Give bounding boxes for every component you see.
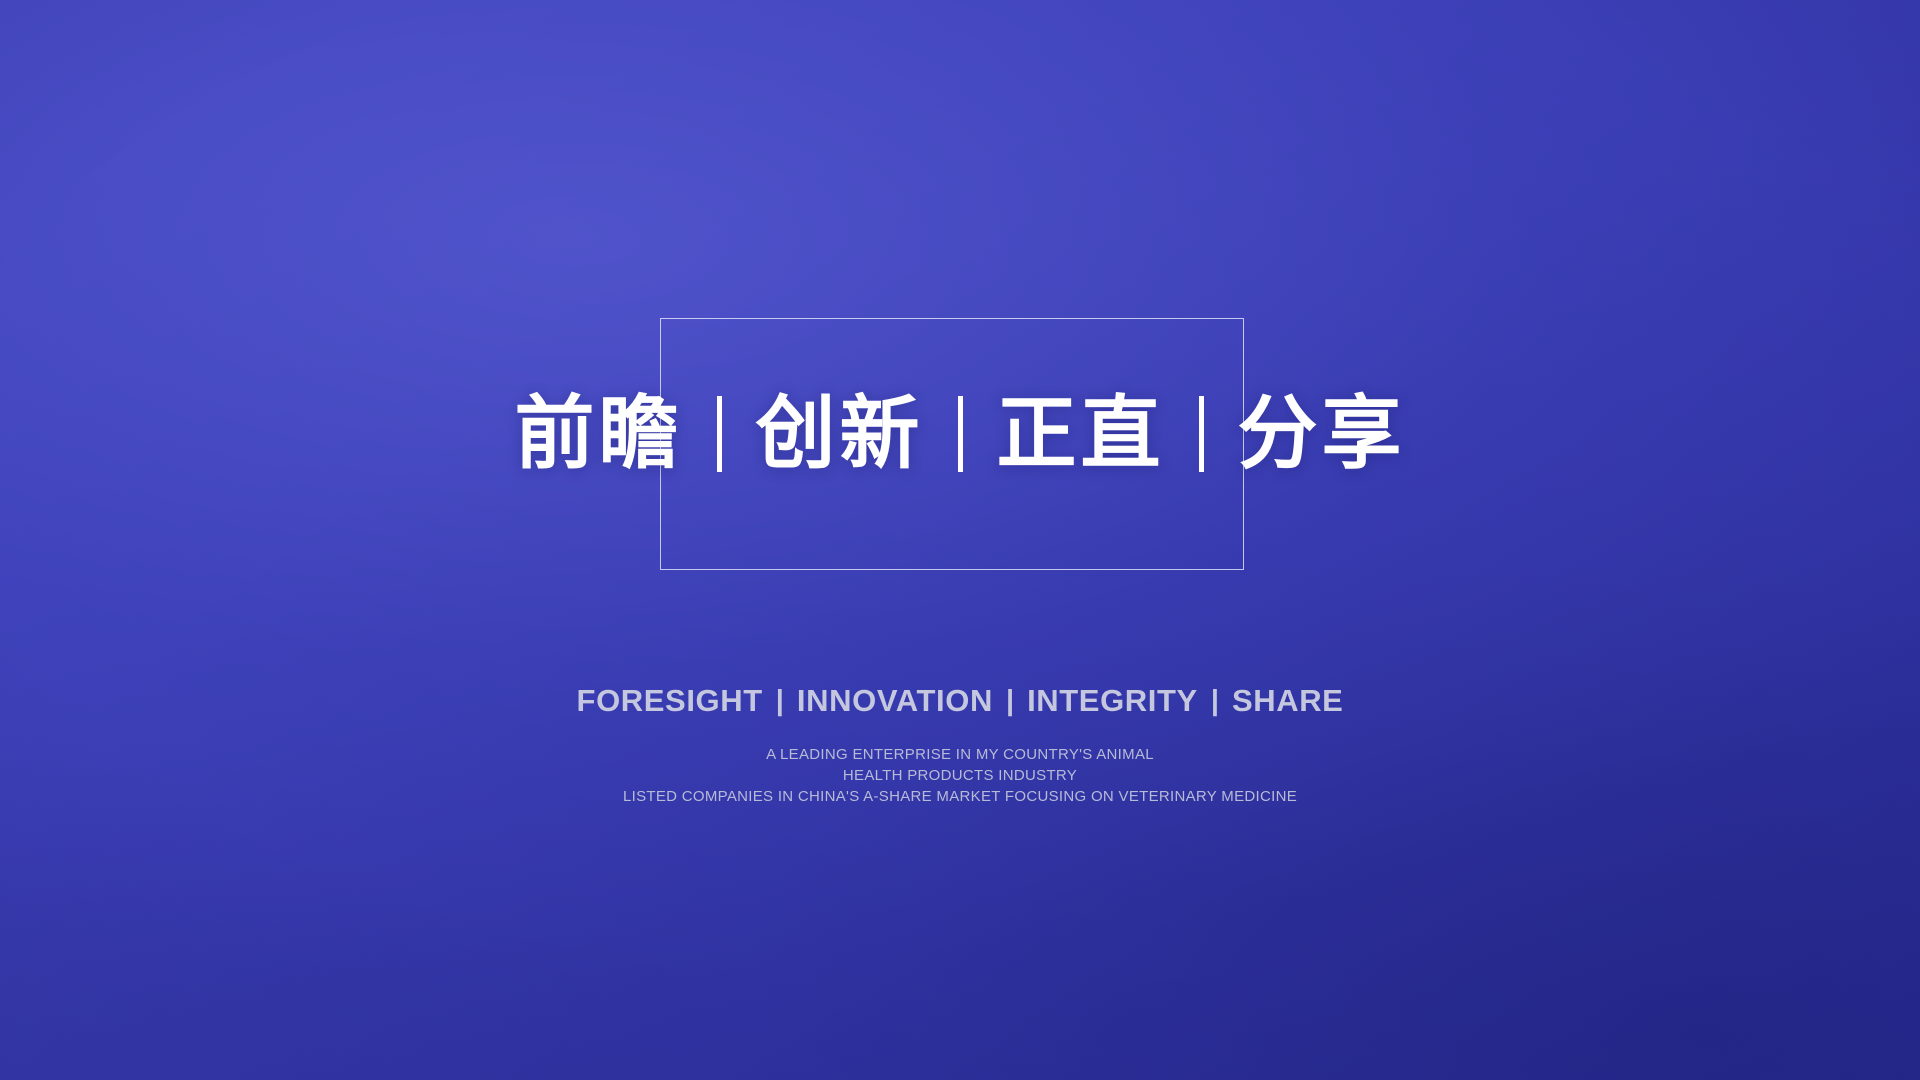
- subtitle-word-3: INTEGRITY: [1027, 682, 1198, 720]
- subtitle-values-english: FORESIGHT | INNOVATION | INTEGRITY | SHA…: [0, 682, 1920, 720]
- slide-content: 前瞻 创新 正直 分享 FORESIGHT | INNOVATION | INT…: [0, 0, 1920, 1080]
- subtitle-word-1: FORESIGHT: [577, 682, 763, 720]
- headline-separator-3: [1199, 396, 1204, 472]
- subtitle-separator-3: |: [1211, 682, 1219, 720]
- headline-word-1: 前瞻: [515, 390, 683, 478]
- subtitle-separator-1: |: [776, 682, 784, 720]
- caption-line-3: LISTED COMPANIES IN CHINA'S A-SHARE MARK…: [0, 786, 1920, 807]
- subtitle-word-2: INNOVATION: [797, 682, 993, 720]
- headline-separator-1: [717, 396, 722, 472]
- caption-line-2: HEALTH PRODUCTS INDUSTRY: [0, 765, 1920, 786]
- subtitle-separator-2: |: [1006, 682, 1014, 720]
- headline-word-4: 分享: [1238, 390, 1406, 478]
- caption-line-1: A LEADING ENTERPRISE IN MY COUNTRY'S ANI…: [0, 744, 1920, 765]
- slide-banner: 前瞻 创新 正直 分享 FORESIGHT | INNOVATION | INT…: [0, 0, 1920, 1080]
- caption-block: A LEADING ENTERPRISE IN MY COUNTRY'S ANI…: [0, 744, 1920, 807]
- headline-values: 前瞻 创新 正直 分享: [0, 388, 1920, 480]
- headline-word-2: 创新: [756, 390, 924, 478]
- headline-word-3: 正直: [997, 390, 1165, 478]
- subtitle-word-4: SHARE: [1232, 682, 1344, 720]
- headline-separator-2: [958, 396, 963, 472]
